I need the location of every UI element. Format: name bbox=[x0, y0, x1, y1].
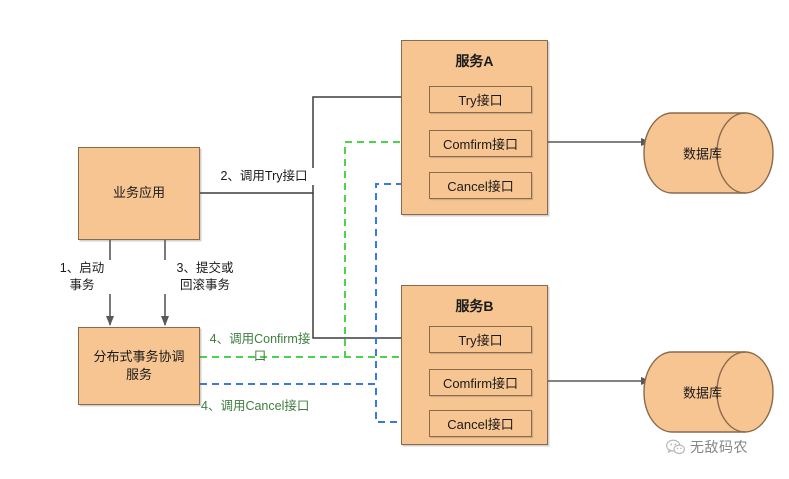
node-transaction-coordinator[interactable]: 分布式事务协调 服务 bbox=[78, 327, 200, 405]
service-b-interface-comfirm[interactable]: Comfirm接口 bbox=[429, 369, 532, 396]
edge-label-call-confirm: 4、调用Confirm接 口 bbox=[203, 331, 317, 365]
service-a-interface-try[interactable]: Try接口 bbox=[429, 86, 532, 113]
node-database-a-label: 数据库 bbox=[660, 144, 745, 163]
watermark: 无敌码农 bbox=[666, 437, 748, 457]
watermark-text: 无敌码农 bbox=[690, 437, 748, 457]
node-service-a[interactable]: 服务A Try接口 Comfirm接口 Cancel接口 bbox=[401, 40, 548, 215]
wechat-icon bbox=[666, 439, 685, 456]
node-service-a-title: 服务A bbox=[402, 51, 547, 71]
node-service-b-title: 服务B bbox=[402, 296, 547, 316]
node-database-b[interactable]: 数据库 bbox=[660, 352, 773, 432]
edge-label-call-cancel: 4、调用Cancel接口 bbox=[199, 398, 329, 415]
edge-label-start-transaction: 1、启动 事务 bbox=[40, 260, 124, 294]
service-b-interface-try[interactable]: Try接口 bbox=[429, 326, 532, 353]
edge-label-call-try: 2、调用Try接口 bbox=[206, 168, 322, 185]
service-b-interface-cancel[interactable]: Cancel接口 bbox=[429, 410, 532, 437]
node-service-b[interactable]: 服务B Try接口 Comfirm接口 Cancel接口 bbox=[401, 285, 548, 445]
node-business-application-label: 业务应用 bbox=[79, 184, 199, 202]
node-business-application[interactable]: 业务应用 bbox=[78, 147, 200, 240]
service-a-interface-comfirm[interactable]: Comfirm接口 bbox=[429, 130, 532, 157]
node-database-b-label: 数据库 bbox=[660, 383, 745, 402]
diagram-canvas: 业务应用 分布式事务协调 服务 服务A Try接口 Comfirm接口 Canc… bbox=[0, 0, 789, 479]
node-transaction-coordinator-label: 分布式事务协调 服务 bbox=[79, 348, 199, 384]
edge-call-try-b bbox=[313, 193, 411, 338]
service-a-interface-cancel[interactable]: Cancel接口 bbox=[429, 172, 532, 199]
node-database-a[interactable]: 数据库 bbox=[660, 113, 773, 193]
edge-label-commit-or-rollback: 3、提交或 回滚事务 bbox=[158, 260, 252, 294]
